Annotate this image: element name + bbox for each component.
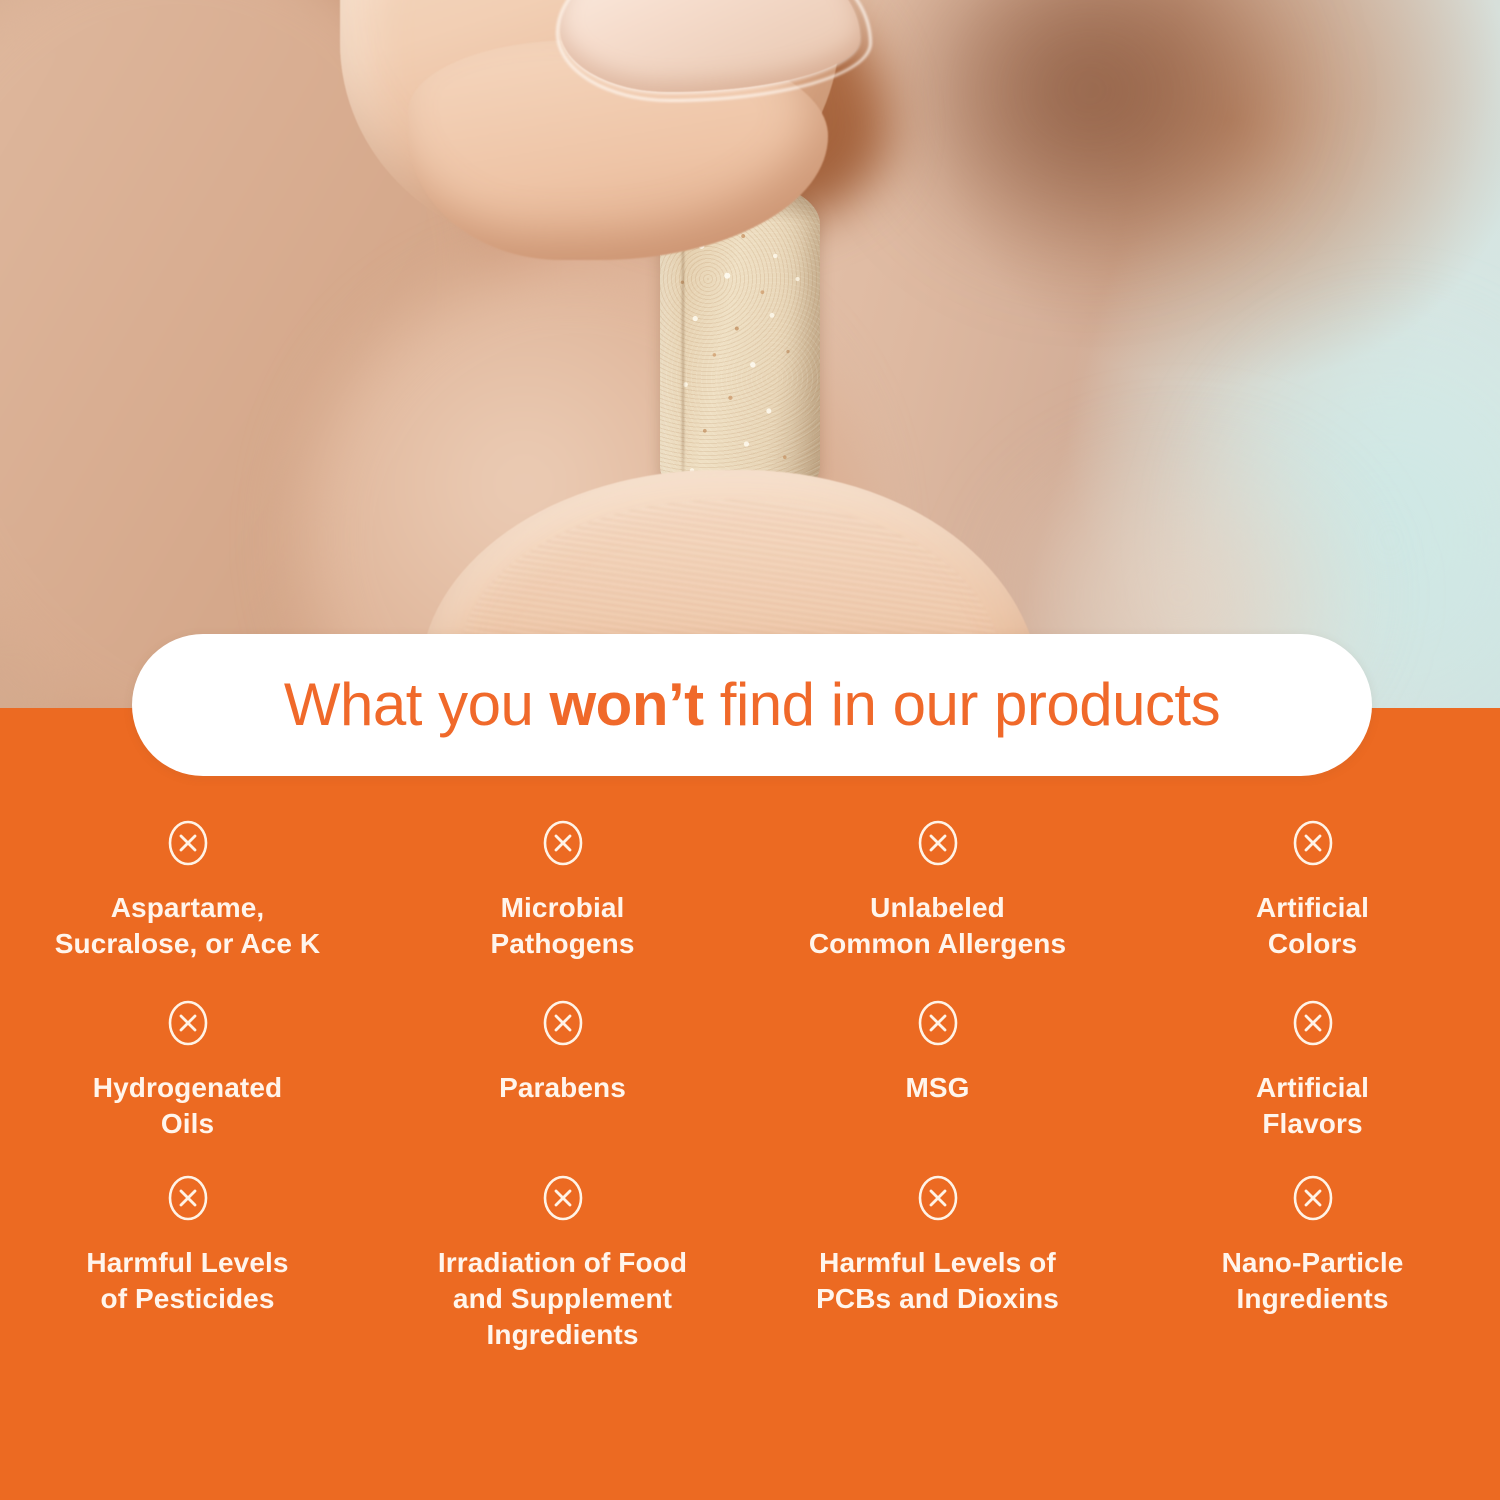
x-circle-icon — [165, 1000, 211, 1046]
exclusions-row: Harmful Levels of Pesticides Irradiation… — [0, 1175, 1500, 1375]
exclusion-item: Nano-Particle Ingredients — [1125, 1175, 1500, 1375]
x-circle-icon — [1290, 1000, 1336, 1046]
x-circle-icon — [165, 820, 211, 866]
exclusion-item: Aspartame, Sucralose, or Ace K — [0, 820, 375, 1000]
exclusion-item: Unlabeled Common Allergens — [750, 820, 1125, 1000]
product-photo — [0, 0, 1500, 710]
exclusion-item: Irradiation of Food and Supplement Ingre… — [375, 1175, 750, 1375]
exclusion-item: Parabens — [375, 1000, 750, 1175]
headline-banner: What you won’t find in our products — [132, 634, 1372, 776]
exclusion-label: Artificial Colors — [1256, 890, 1369, 962]
x-circle-icon — [915, 1175, 961, 1221]
product-infographic: Aspartame, Sucralose, or Ace K Microbial… — [0, 0, 1500, 1500]
exclusion-item: Harmful Levels of Pesticides — [0, 1175, 375, 1375]
exclusion-label: Parabens — [499, 1070, 626, 1106]
exclusion-label: Artificial Flavors — [1256, 1070, 1369, 1142]
exclusions-row: Hydrogenated Oils Parabens — [0, 1000, 1500, 1175]
exclusion-item: Hydrogenated Oils — [0, 1000, 375, 1175]
exclusions-row: Aspartame, Sucralose, or Ace K Microbial… — [0, 820, 1500, 1000]
exclusion-item: Artificial Colors — [1125, 820, 1500, 1000]
exclusions-grid: Aspartame, Sucralose, or Ace K Microbial… — [0, 820, 1500, 1375]
exclusion-item: Artificial Flavors — [1125, 1000, 1500, 1175]
x-circle-icon — [1290, 820, 1336, 866]
exclusion-label: Hydrogenated Oils — [93, 1070, 282, 1142]
x-circle-icon — [1290, 1175, 1336, 1221]
exclusion-item: MSG — [750, 1000, 1125, 1175]
exclusion-label: Harmful Levels of Pesticides — [86, 1245, 288, 1317]
headline-emphasis: won’t — [550, 671, 704, 738]
exclusion-label: Microbial Pathogens — [490, 890, 634, 962]
page-title: What you won’t find in our products — [284, 675, 1220, 735]
x-circle-icon — [915, 820, 961, 866]
exclusion-label: Nano-Particle Ingredients — [1222, 1245, 1404, 1317]
x-circle-icon — [540, 820, 586, 866]
exclusion-label: Unlabeled Common Allergens — [809, 890, 1066, 962]
exclusion-label: MSG — [905, 1070, 969, 1106]
exclusion-label: Aspartame, Sucralose, or Ace K — [55, 890, 320, 962]
exclusions-panel: Aspartame, Sucralose, or Ace K Microbial… — [0, 708, 1500, 1500]
x-circle-icon — [165, 1175, 211, 1221]
x-circle-icon — [540, 1175, 586, 1221]
background-bokeh — [880, 0, 1300, 270]
exclusion-item: Harmful Levels of PCBs and Dioxins — [750, 1175, 1125, 1375]
headline-before: What you — [284, 671, 550, 738]
x-circle-icon — [915, 1000, 961, 1046]
exclusion-label: Irradiation of Food and Supplement Ingre… — [438, 1245, 687, 1352]
exclusion-item: Microbial Pathogens — [375, 820, 750, 1000]
x-circle-icon — [540, 1000, 586, 1046]
headline-after: find in our products — [704, 671, 1220, 738]
exclusion-label: Harmful Levels of PCBs and Dioxins — [816, 1245, 1059, 1317]
